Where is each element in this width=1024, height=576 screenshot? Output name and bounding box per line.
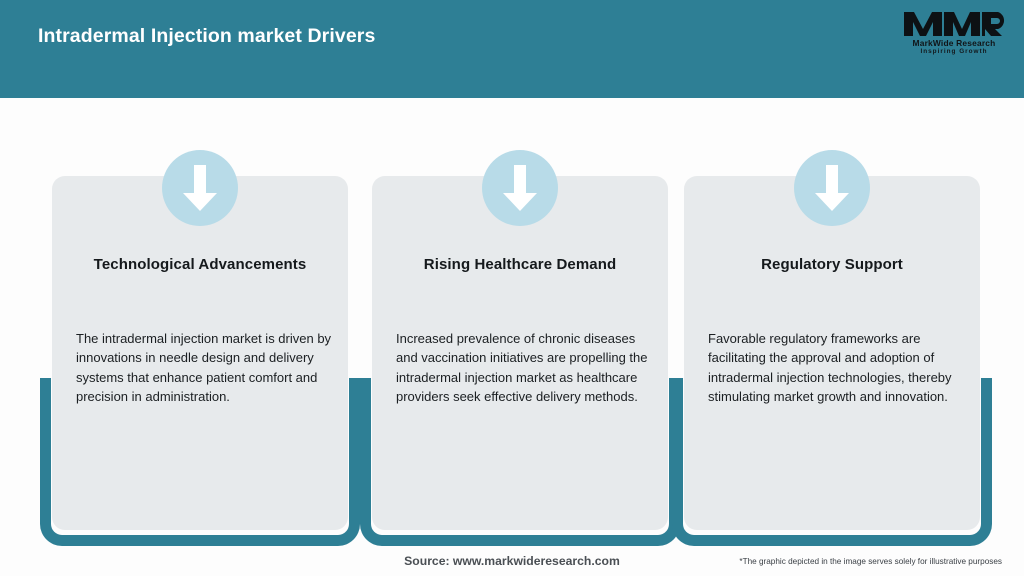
infographic-slide: Intradermal Injection market Drivers Mar…: [0, 0, 1024, 576]
arrow-down-glyph: [500, 163, 540, 213]
card-heading: Rising Healthcare Demand: [372, 256, 668, 273]
header-band: Intradermal Injection market Drivers Mar…: [0, 0, 1024, 98]
logo-tagline: Inspiring Growth: [902, 48, 1006, 56]
logo-company-name: MarkWide Research: [902, 38, 1006, 48]
logo-mark-icon: [902, 9, 1006, 39]
card-heading: Regulatory Support: [684, 256, 980, 273]
card-description: The intradermal injection market is driv…: [76, 329, 334, 407]
page-title: Intradermal Injection market Drivers: [38, 25, 375, 48]
arrow-down-icon: [162, 150, 238, 226]
card-panel: Technological Advancements The intraderm…: [52, 176, 348, 530]
card-description: Increased prevalence of chronic diseases…: [396, 329, 654, 407]
card-panel: Regulatory Support Favorable regulatory …: [684, 176, 980, 530]
arrow-down-icon: [482, 150, 558, 226]
card-heading: Technological Advancements: [52, 256, 348, 273]
card-description: Favorable regulatory frameworks are faci…: [708, 329, 966, 407]
arrow-down-icon: [794, 150, 870, 226]
arrow-down-glyph: [180, 163, 220, 213]
card-panel: Rising Healthcare Demand Increased preva…: [372, 176, 668, 530]
disclaimer-note: *The graphic depicted in the image serve…: [739, 557, 1002, 566]
arrow-down-glyph: [812, 163, 852, 213]
brand-logo: MarkWide Research Inspiring Growth: [902, 9, 1006, 61]
